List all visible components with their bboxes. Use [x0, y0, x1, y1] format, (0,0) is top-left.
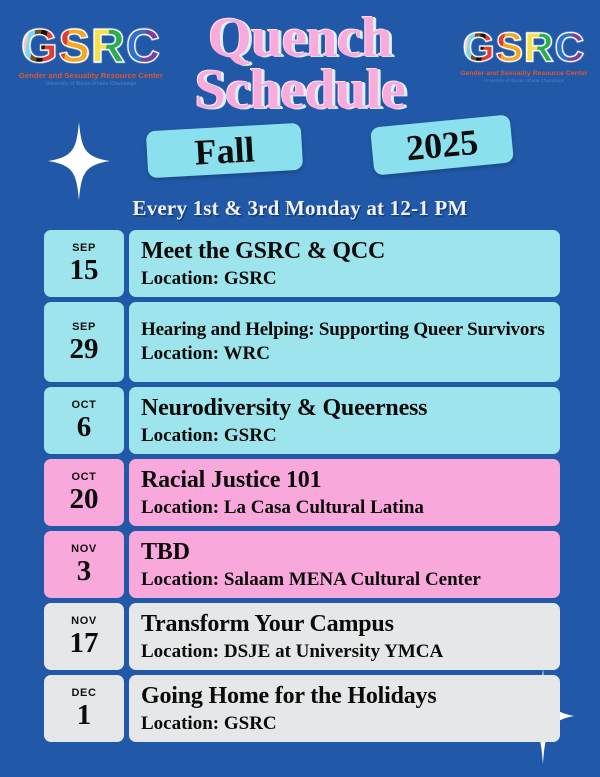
schedule-row: NOV17Transform Your CampusLocation: DSJE… [44, 603, 560, 670]
gsrc-wordmark: GSRC [460, 28, 588, 67]
event-title: Transform Your Campus [141, 612, 548, 637]
event-day: 15 [70, 255, 99, 285]
event-month: NOV [71, 544, 97, 555]
event-day: 29 [70, 334, 99, 364]
event-day: 17 [70, 628, 99, 658]
event-title: Neurodiversity & Queerness [141, 396, 548, 421]
event-location: Location: GSRC [141, 425, 548, 446]
gsrc-logo-subtitle: Gender and Sexuality Resource Center [460, 70, 588, 77]
event-title: Hearing and Helping: Supporting Queer Su… [141, 320, 548, 340]
gsrc-logo-university: University of Illinois Urbana Champaign [460, 79, 588, 84]
schedule-list: SEP15Meet the GSRC & QCCLocation: GSRCSE… [44, 230, 560, 742]
event-detail-cell: Racial Justice 101Location: La Casa Cult… [129, 459, 560, 526]
recurrence-text: Every 1st & 3rd Monday at 12-1 PM [0, 196, 600, 221]
term-badge-label: Fall [194, 131, 256, 170]
event-location: Location: DSJE at University YMCA [141, 641, 548, 662]
gsrc-logo-left: GSRC Gender and Sexuality Resource Cente… [18, 24, 164, 87]
event-day: 6 [77, 412, 92, 442]
sparkle-icon [48, 122, 110, 205]
schedule-row: DEC1Going Home for the HolidaysLocation:… [44, 675, 560, 742]
event-date-cell: OCT6 [44, 387, 124, 454]
event-detail-cell: TBDLocation: Salaam MENA Cultural Center [129, 531, 560, 598]
event-date-cell: SEP29 [44, 302, 124, 382]
schedule-row: OCT6Neurodiversity & QueernessLocation: … [44, 387, 560, 454]
gsrc-logo-university: University of Illinois Urbana Champaign [18, 82, 164, 87]
event-day: 20 [70, 484, 99, 514]
event-title: Meet the GSRC & QCC [141, 239, 548, 264]
gsrc-wordmark: GSRC [18, 24, 164, 69]
event-date-cell: DEC1 [44, 675, 124, 742]
schedule-row: SEP29Hearing and Helping: Supporting Que… [44, 302, 560, 382]
event-location: Location: GSRC [141, 713, 548, 734]
event-date-cell: NOV17 [44, 603, 124, 670]
year-badge-label: 2025 [404, 124, 479, 167]
event-title: TBD [141, 540, 548, 565]
event-month: NOV [71, 616, 97, 627]
event-day: 3 [77, 556, 92, 586]
schedule-row: OCT20Racial Justice 101Location: La Casa… [44, 459, 560, 526]
event-day: 1 [77, 700, 92, 730]
event-location: Location: WRC [141, 343, 548, 364]
event-month: SEP [72, 243, 96, 254]
event-detail-cell: Transform Your CampusLocation: DSJE at U… [129, 603, 560, 670]
event-title: Going Home for the Holidays [141, 684, 548, 709]
year-badge: 2025 [370, 114, 514, 175]
quench-schedule-poster: GSRC Gender and Sexuality Resource Cente… [0, 0, 600, 777]
event-month: DEC [71, 688, 96, 699]
event-month: SEP [72, 322, 96, 333]
event-date-cell: SEP15 [44, 230, 124, 297]
event-month: OCT [71, 400, 96, 411]
event-location: Location: GSRC [141, 268, 548, 289]
event-title: Racial Justice 101 [141, 468, 548, 493]
event-date-cell: OCT20 [44, 459, 124, 526]
event-detail-cell: Hearing and Helping: Supporting Queer Su… [129, 302, 560, 382]
event-location: Location: La Casa Cultural Latina [141, 497, 548, 518]
event-date-cell: NOV3 [44, 531, 124, 598]
gsrc-logo-subtitle: Gender and Sexuality Resource Center [18, 72, 164, 80]
event-month: OCT [71, 472, 96, 483]
event-detail-cell: Meet the GSRC & QCCLocation: GSRC [129, 230, 560, 297]
schedule-row: SEP15Meet the GSRC & QCCLocation: GSRC [44, 230, 560, 297]
event-location: Location: Salaam MENA Cultural Center [141, 569, 548, 590]
term-badge: Fall [146, 123, 303, 179]
event-detail-cell: Going Home for the HolidaysLocation: GSR… [129, 675, 560, 742]
schedule-row: NOV3TBDLocation: Salaam MENA Cultural Ce… [44, 531, 560, 598]
gsrc-logo-right: GSRC Gender and Sexuality Resource Cente… [460, 28, 588, 84]
event-detail-cell: Neurodiversity & QueernessLocation: GSRC [129, 387, 560, 454]
